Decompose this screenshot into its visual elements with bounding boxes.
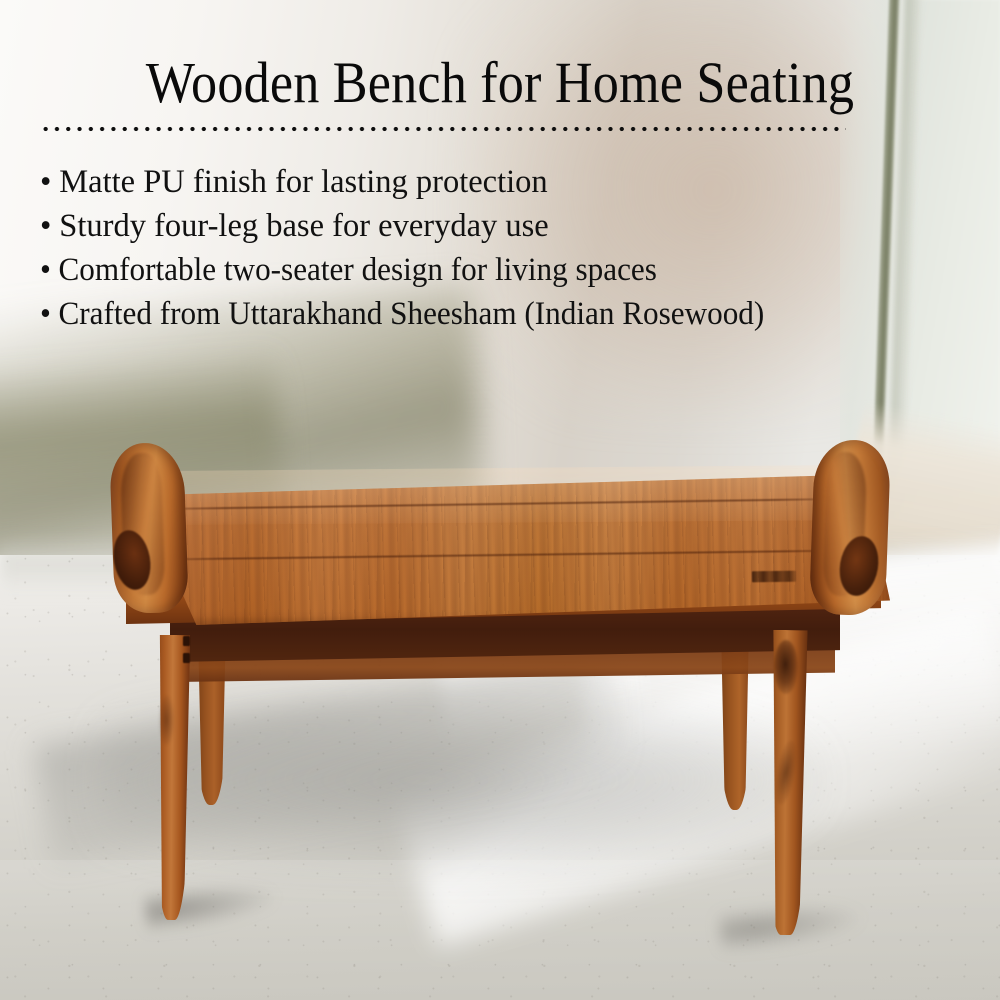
feature-text: Comfortable two-seater design for living…	[58, 252, 656, 288]
product-banner: Wooden Bench for Home Seating •Matte PU …	[0, 0, 1000, 1000]
seat-gloss-sheen	[160, 465, 840, 525]
dotted-divider	[40, 126, 846, 132]
bullet-dot-icon: •	[40, 296, 51, 332]
wood-knot-right-leg-upper	[774, 640, 798, 694]
feature-text: Crafted from Uttarakhand Sheesham (India…	[58, 296, 764, 332]
feature-list: •Matte PU finish for lasting protection …	[40, 160, 960, 336]
list-item: •Comfortable two-seater design for livin…	[40, 248, 909, 292]
joint-peg-upper	[183, 636, 190, 646]
joint-peg-lower	[183, 653, 190, 663]
bullet-dot-icon: •	[40, 252, 51, 288]
feature-text: Matte PU finish for lasting protection	[59, 164, 547, 200]
list-item: •Matte PU finish for lasting protection	[40, 160, 946, 204]
list-item: •Sturdy four-leg base for everyday use	[40, 204, 946, 248]
feature-text: Sturdy four-leg base for everyday use	[59, 208, 548, 244]
list-item: •Crafted from Uttarakhand Sheesham (Indi…	[40, 292, 909, 336]
wood-knot-left-leg	[159, 695, 174, 745]
bullet-dot-icon: •	[40, 208, 51, 244]
bench-leg-front-left	[155, 635, 190, 920]
brand-logo-icon	[752, 571, 796, 582]
bullet-dot-icon: •	[40, 164, 51, 200]
wooden-bench	[0, 0, 1000, 1000]
page-title: Wooden Bench for Home Seating	[50, 52, 950, 113]
